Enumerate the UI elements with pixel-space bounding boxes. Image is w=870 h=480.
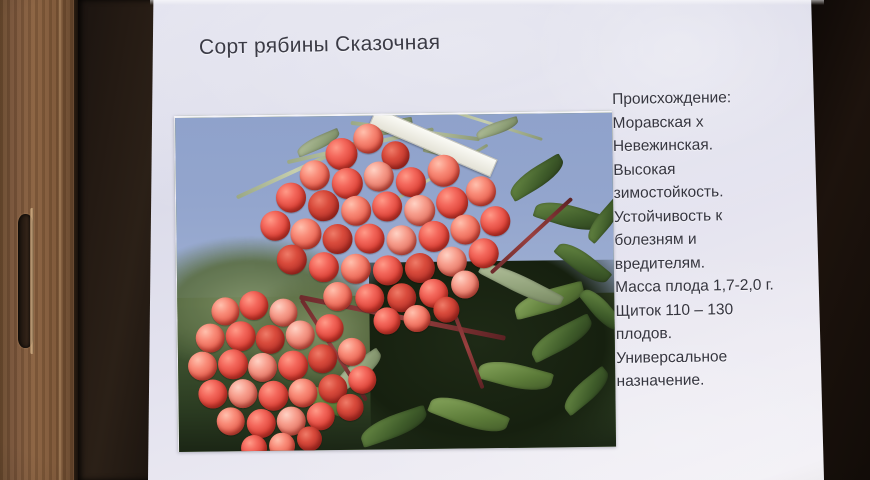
desc-line: Щиток 110 – 130 — [615, 297, 801, 323]
door-handle-rod[interactable] — [30, 208, 34, 354]
desc-line: Масса плода 1,7-2,0 г. — [615, 273, 801, 299]
desc-line: Происхождение: — [612, 85, 798, 111]
desc-line: вредителям. — [615, 250, 801, 276]
desc-line: назначение. — [616, 367, 802, 393]
door-edge-highlight — [58, 0, 62, 480]
projected-slide-photo: Сорт рябины Сказочная — [0, 0, 870, 480]
dark-door-panel — [78, 0, 160, 480]
desc-line: Моравская х — [612, 109, 798, 135]
left-wooden-wall — [0, 0, 80, 480]
desc-line: Устойчивость к — [614, 203, 800, 229]
desc-line: плодов. — [616, 320, 802, 346]
desc-line: зимостойкость. — [613, 179, 799, 205]
desc-line: Универсальное — [616, 344, 802, 370]
desc-line: Высокая — [613, 156, 799, 182]
slide-description: Происхождение: Моравская х Невежинская. … — [612, 85, 803, 393]
desc-line: Невежинская. — [613, 132, 799, 158]
screen-top-edge — [150, 0, 824, 5]
desc-line: болезням и — [614, 226, 800, 252]
rowan-berry-photo — [174, 111, 616, 452]
